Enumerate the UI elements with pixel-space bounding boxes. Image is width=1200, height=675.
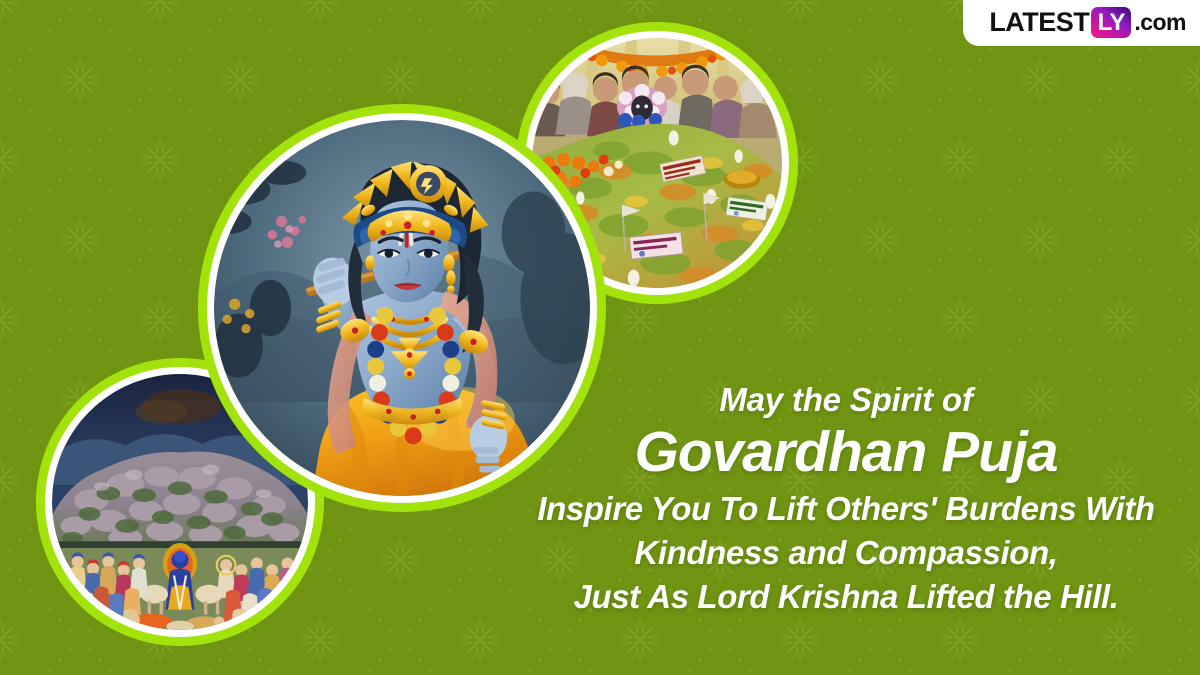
greeting-line-1: May the Spirit of [512,378,1180,421]
greeting-text-block: May the Spirit of Govardhan Puja Inspire… [512,378,1180,619]
greeting-line-4: Kindness and Compassion, [512,531,1180,575]
greeting-headline: Govardhan Puja [512,419,1180,485]
greeting-line-3: Inspire You To Lift Others' Burdens With [512,487,1180,531]
logo-dotcom-text: .com [1134,11,1186,34]
logo-ly-badge: LY [1091,7,1131,38]
greeting-card-canvas: May the Spirit of Govardhan Puja Inspire… [0,0,1200,675]
greeting-line-5: Just As Lord Krishna Lifted the Hill. [512,575,1180,619]
latestly-logo[interactable]: LATEST LY .com [963,0,1200,46]
logo-latest-text: LATEST [989,9,1089,36]
